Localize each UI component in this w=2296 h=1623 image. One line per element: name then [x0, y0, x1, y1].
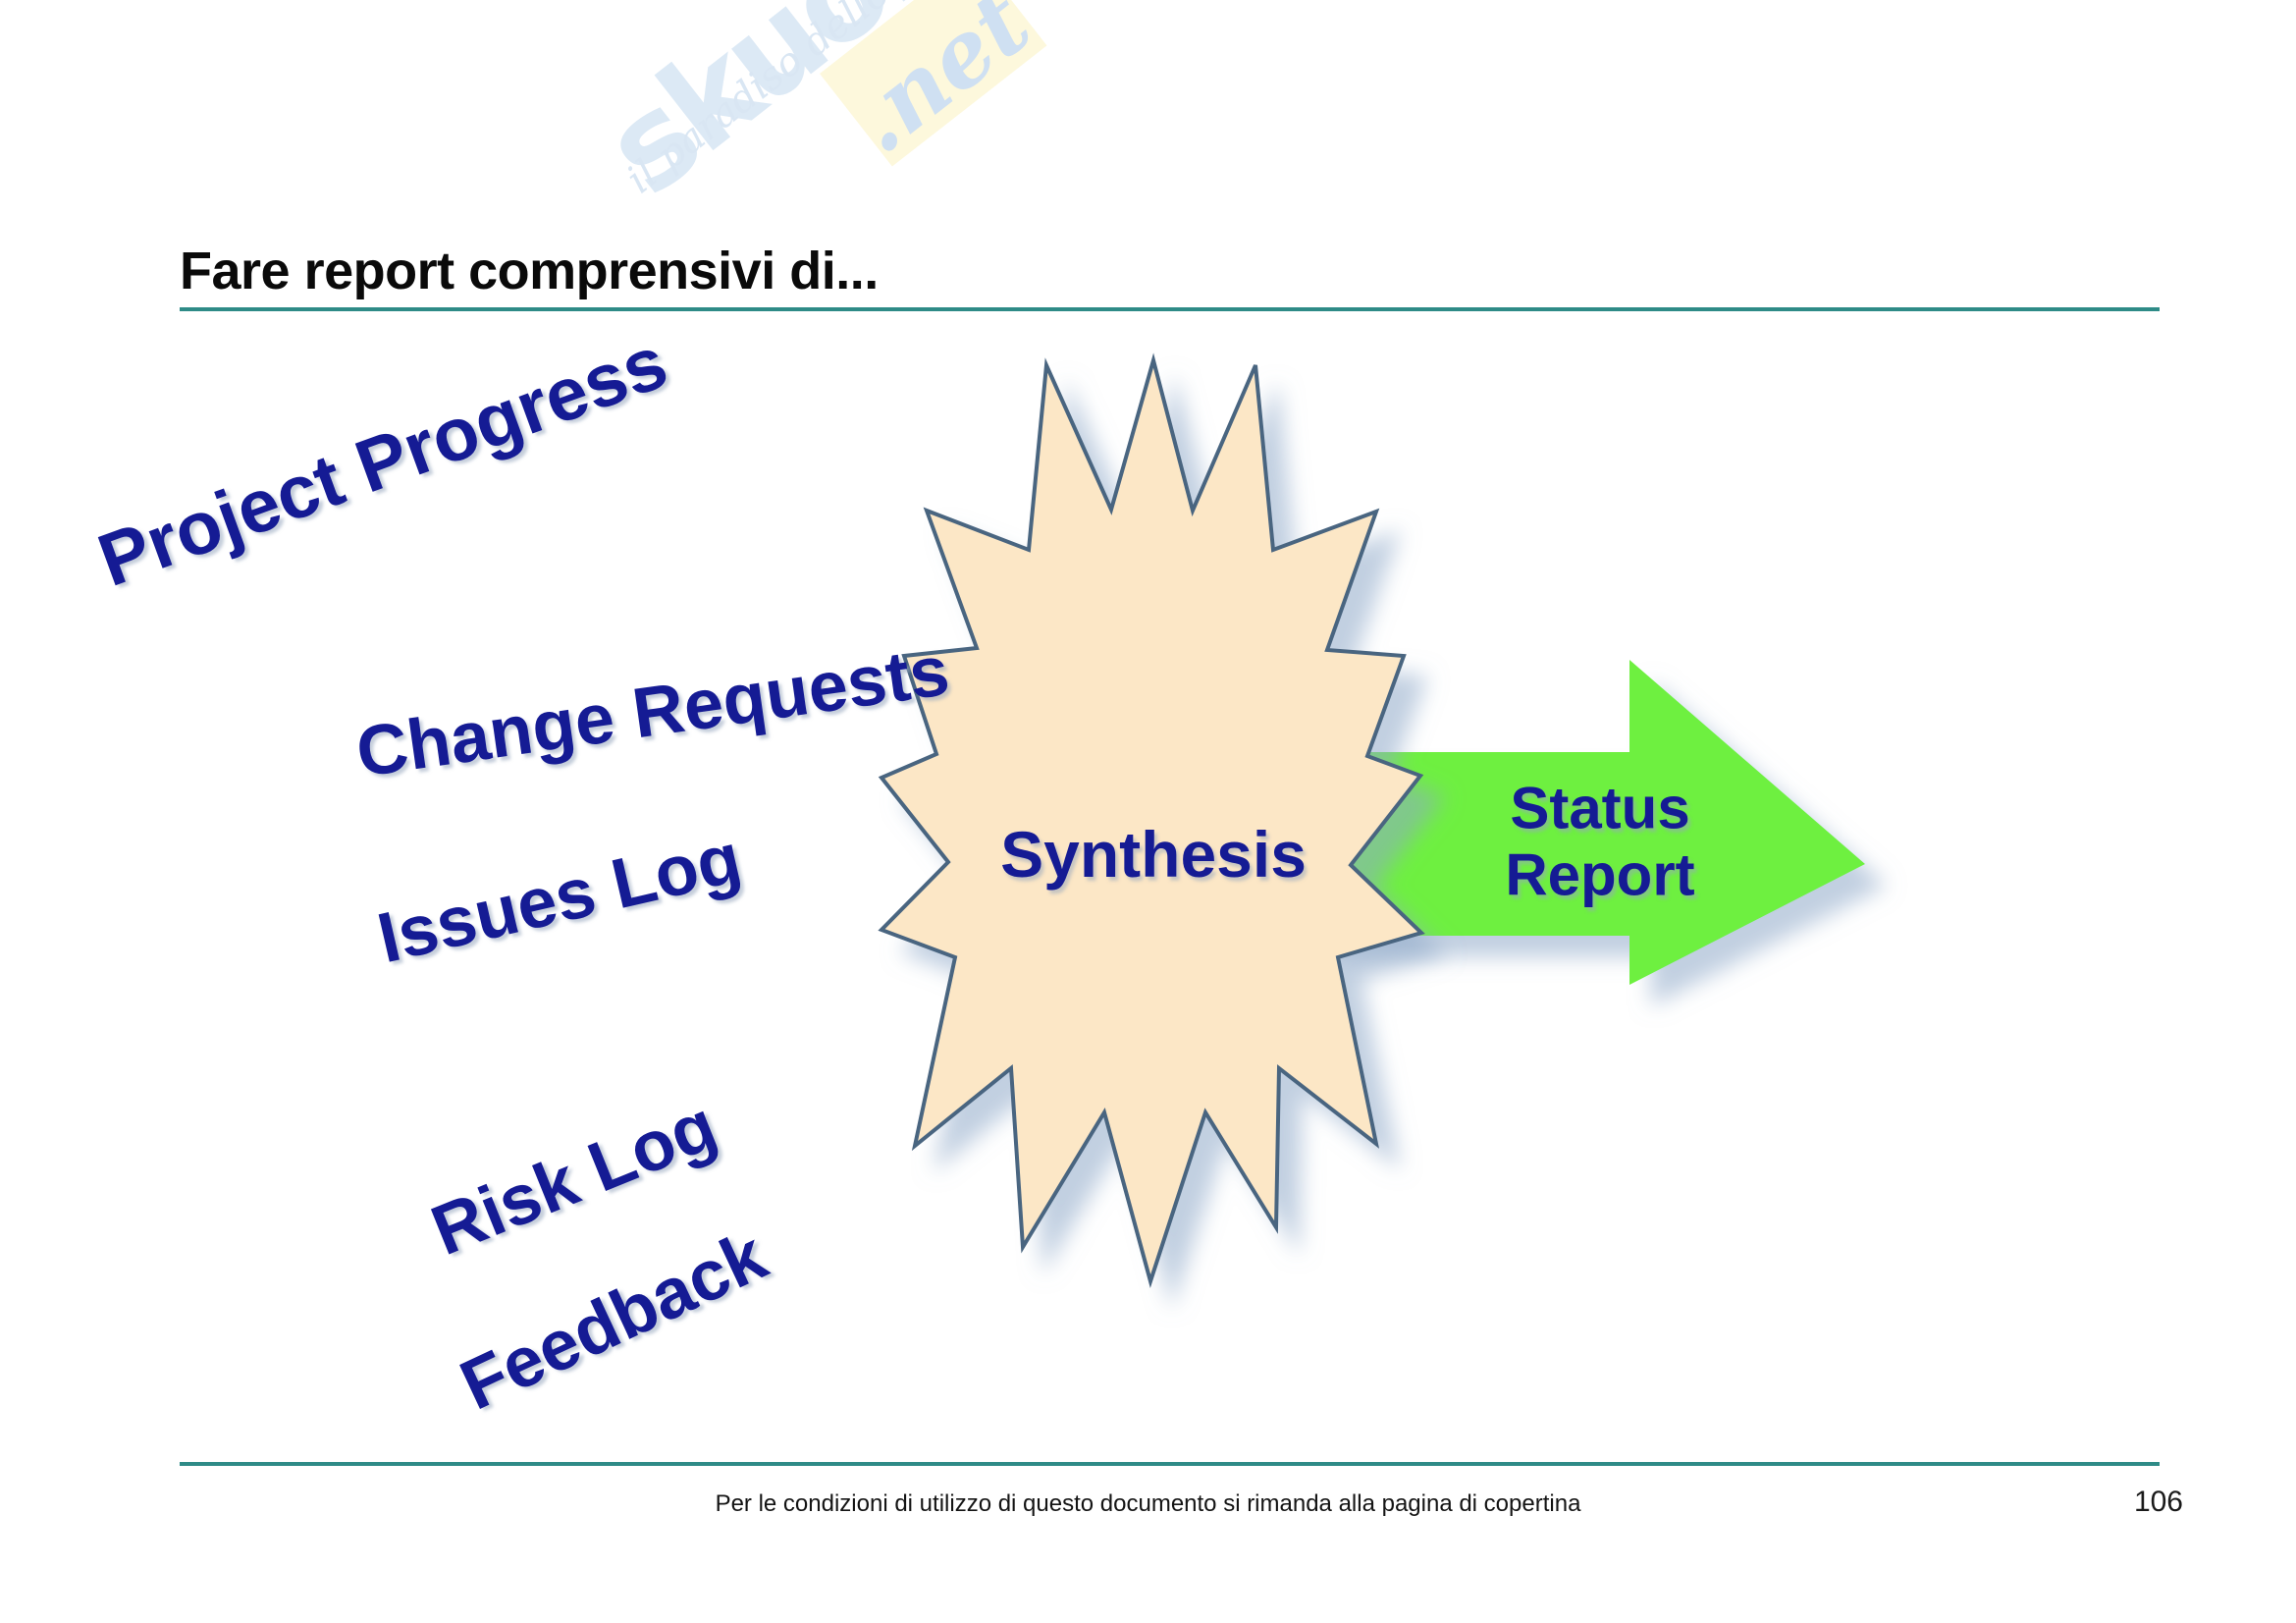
page-number: 106	[2134, 1486, 2183, 1519]
page-title: Fare report comprensivi di...	[180, 241, 879, 301]
output-label: Status Report	[1505, 776, 1694, 910]
footer-note: Per le condizioni di utilizzo di questo …	[0, 1490, 2296, 1518]
title-divider	[180, 307, 2160, 311]
footer-divider	[180, 1462, 2160, 1466]
process-label: Synthesis	[1000, 817, 1307, 892]
slide-canvas: skuola .net il paradiso dello studente F…	[0, 0, 2296, 1623]
